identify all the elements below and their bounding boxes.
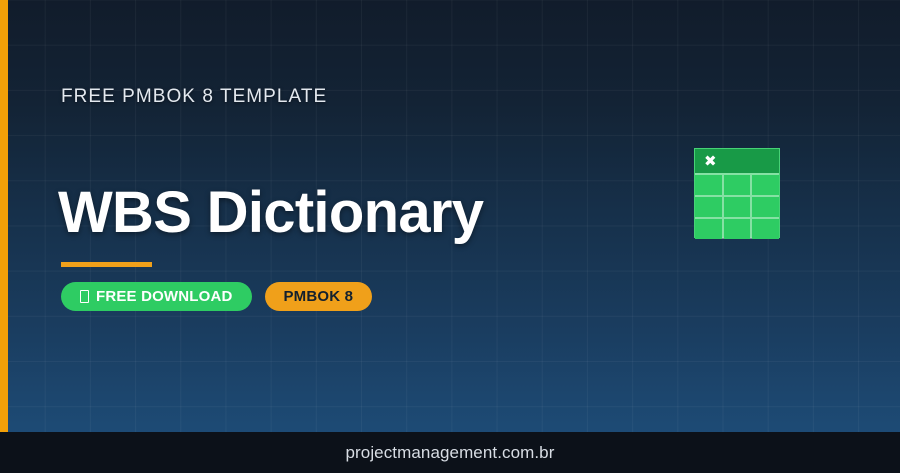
free-download-badge-label: FREE DOWNLOAD [96,288,233,305]
left-accent-bar [0,0,8,432]
spreadsheet-cell [695,175,722,195]
download-icon [80,290,89,303]
spreadsheet-cell [752,219,779,239]
pmbok-version-badge[interactable]: PMBOK 8 [265,282,373,311]
spreadsheet-x-icon: ✖ [704,154,717,169]
spreadsheet-header-bar: ✖ [695,149,779,173]
spreadsheet-cell [724,175,751,195]
badge-row: FREE DOWNLOAD PMBOK 8 [61,282,372,311]
eyebrow-label: FREE PMBOK 8 TEMPLATE [61,86,327,108]
banner-content: FREE PMBOK 8 TEMPLATE WBS Dictionary FRE… [61,0,761,432]
spreadsheet-grid [695,173,779,239]
pmbok-version-badge-label: PMBOK 8 [284,288,354,305]
title-underline-accent [61,262,152,267]
spreadsheet-cell [695,219,722,239]
promo-banner: FREE PMBOK 8 TEMPLATE WBS Dictionary FRE… [0,0,900,473]
free-download-badge[interactable]: FREE DOWNLOAD [61,282,252,311]
spreadsheet-cell [724,197,751,217]
page-title: WBS Dictionary [58,179,483,246]
footer-bar: projectmanagement.com.br [0,432,900,473]
spreadsheet-cell [752,197,779,217]
spreadsheet-icon: ✖ [694,148,780,238]
footer-website-label[interactable]: projectmanagement.com.br [346,443,555,463]
spreadsheet-cell [724,219,751,239]
spreadsheet-cell [752,175,779,195]
spreadsheet-cell [695,197,722,217]
